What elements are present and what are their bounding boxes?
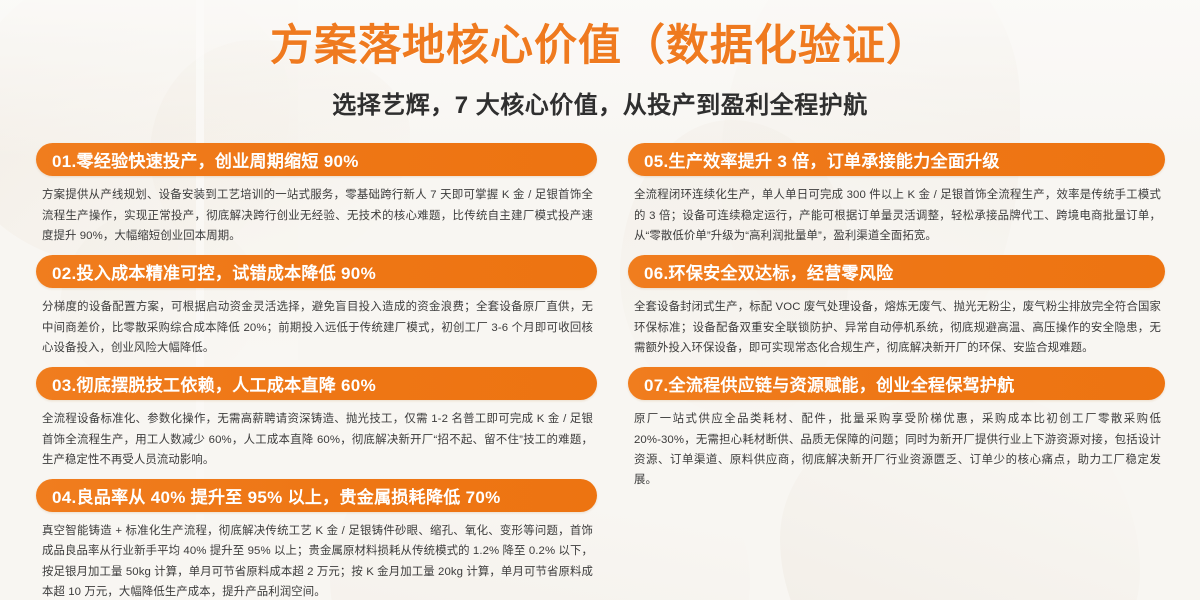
value-card-06: 06.环保安全双达标，经营零风险 全套设备封闭式生产，标配 VOC 废气处理设备…	[628, 255, 1165, 358]
value-card-04-header: 04.良品率从 40% 提升至 95% 以上，贵金属损耗降低 70%	[36, 479, 597, 512]
value-card-05: 05.生产效率提升 3 倍，订单承接能力全面升级 全流程闭环连续化生产，单人单日…	[628, 143, 1165, 246]
page-subtitle: 选择艺辉，7 大核心价值，从投产到盈利全程护航	[0, 85, 1200, 120]
page-header: 方案落地核心价值（数据化验证） 选择艺辉，7 大核心价值，从投产到盈利全程护航	[0, 0, 1200, 120]
value-card-01-title: 01.零经验快速投产，创业周期缩短 90%	[52, 147, 359, 172]
value-card-03: 03.彻底摆脱技工依赖，人工成本直降 60% 全流程设备标准化、参数化操作，无需…	[36, 367, 597, 470]
value-card-06-body: 全套设备封闭式生产，标配 VOC 废气处理设备，熔炼无废气、抛光无粉尘，废气粉尘…	[628, 288, 1165, 358]
value-card-05-title: 05.生产效率提升 3 倍，订单承接能力全面升级	[644, 147, 1000, 172]
value-card-06-header: 06.环保安全双达标，经营零风险	[628, 255, 1165, 288]
value-card-04: 04.良品率从 40% 提升至 95% 以上，贵金属损耗降低 70% 真空智能铸…	[36, 479, 597, 600]
value-card-07-body: 原厂一站式供应全品类耗材、配件，批量采购享受阶梯优惠，采购成本比初创工厂零散采购…	[628, 400, 1165, 490]
value-card-07-header: 07.全流程供应链与资源赋能，创业全程保驾护航	[628, 367, 1165, 400]
value-card-05-header: 05.生产效率提升 3 倍，订单承接能力全面升级	[628, 143, 1165, 176]
value-card-06-title: 06.环保安全双达标，经营零风险	[644, 259, 893, 284]
value-card-01: 01.零经验快速投产，创业周期缩短 90% 方案提供从产线规划、设备安装到工艺培…	[36, 143, 597, 246]
value-card-01-header: 01.零经验快速投产，创业周期缩短 90%	[36, 143, 597, 176]
page-title: 方案落地核心价值（数据化验证）	[0, 22, 1200, 71]
value-card-02-body: 分梯度的设备配置方案，可根据启动资金灵活选择，避免盲目投入造成的资金浪费；全套设…	[36, 288, 597, 358]
value-card-04-body: 真空智能铸造 + 标准化生产流程，彻底解决传统工艺 K 金 / 足银铸件砂眼、缩…	[36, 512, 597, 600]
value-card-02: 02.投入成本精准可控，试错成本降低 90% 分梯度的设备配置方案，可根据启动资…	[36, 255, 597, 358]
value-card-02-header: 02.投入成本精准可控，试错成本降低 90%	[36, 255, 597, 288]
value-card-02-title: 02.投入成本精准可控，试错成本降低 90%	[52, 259, 376, 284]
value-card-03-title: 03.彻底摆脱技工依赖，人工成本直降 60%	[52, 371, 376, 396]
value-cards-area: 01.零经验快速投产，创业周期缩短 90% 方案提供从产线规划、设备安装到工艺培…	[0, 120, 1200, 600]
value-card-07-title: 07.全流程供应链与资源赋能，创业全程保驾护航	[644, 371, 1015, 396]
value-card-03-header: 03.彻底摆脱技工依赖，人工成本直降 60%	[36, 367, 597, 400]
value-card-01-body: 方案提供从产线规划、设备安装到工艺培训的一站式服务，零基础跨行新人 7 天即可掌…	[36, 176, 597, 246]
right-column: 05.生产效率提升 3 倍，订单承接能力全面升级 全流程闭环连续化生产，单人单日…	[628, 143, 1165, 600]
value-card-05-body: 全流程闭环连续化生产，单人单日可完成 300 件以上 K 金 / 足银首饰全流程…	[628, 176, 1165, 246]
left-column: 01.零经验快速投产，创业周期缩短 90% 方案提供从产线规划、设备安装到工艺培…	[36, 143, 597, 600]
value-card-04-title: 04.良品率从 40% 提升至 95% 以上，贵金属损耗降低 70%	[52, 483, 501, 508]
value-card-07: 07.全流程供应链与资源赋能，创业全程保驾护航 原厂一站式供应全品类耗材、配件，…	[628, 367, 1165, 490]
value-card-03-body: 全流程设备标准化、参数化操作，无需高薪聘请资深铸造、抛光技工，仅需 1-2 名普…	[36, 400, 597, 470]
